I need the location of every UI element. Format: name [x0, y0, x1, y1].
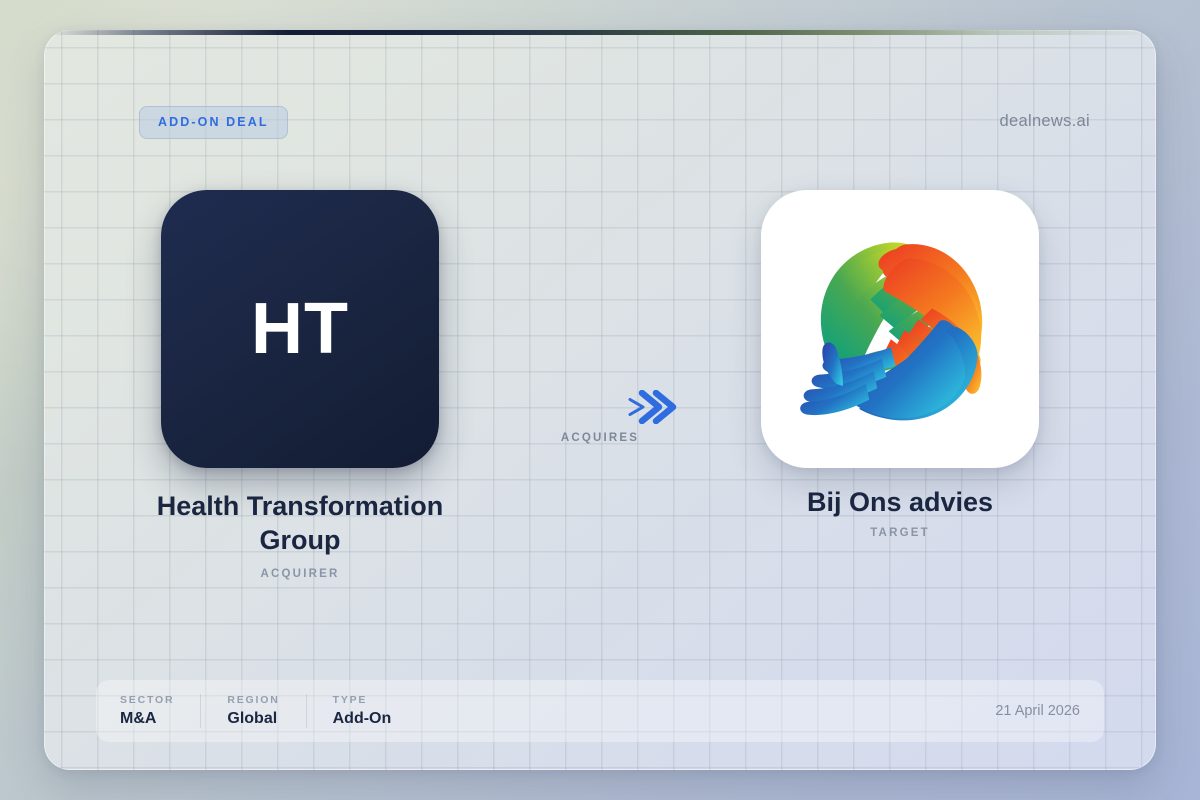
- target-logo-tile: [761, 190, 1039, 468]
- target-block: Bij Ons advies TARGET: [705, 190, 1095, 539]
- meta-sector: SECTOR M&A: [120, 694, 201, 728]
- acquirer-block: HT Health Transformation Group ACQUIRER: [105, 190, 495, 580]
- brand-watermark: dealnews.ai: [1000, 112, 1090, 131]
- meta-type: TYPE Add-On: [333, 694, 418, 728]
- acquirer-name: Health Transformation Group: [135, 490, 465, 558]
- acquirer-role-label: ACQUIRER: [261, 568, 340, 580]
- deal-date: 21 April 2026: [995, 703, 1080, 719]
- meta-sector-value: M&A: [120, 710, 174, 728]
- deal-row: HT Health Transformation Group ACQUIRER: [44, 190, 1156, 580]
- meta-type-label: TYPE: [333, 694, 392, 706]
- card-top-accent-bar: [44, 30, 1156, 35]
- target-name: Bij Ons advies: [807, 486, 993, 520]
- meta-region-label: REGION: [227, 694, 279, 706]
- deal-meta-footer: SECTOR M&A REGION Global TYPE Add-On 21 …: [96, 680, 1104, 742]
- meta-sector-label: SECTOR: [120, 694, 174, 706]
- deal-type-badge[interactable]: ADD-ON DEAL: [139, 106, 288, 139]
- three-hands-circle-icon: [786, 215, 1014, 443]
- meta-region: REGION Global: [227, 694, 306, 728]
- meta-type-value: Add-On: [333, 710, 392, 728]
- deal-card: ADD-ON DEAL dealnews.ai HT Health Transf…: [44, 30, 1156, 770]
- relation-label: ACQUIRES: [561, 432, 639, 444]
- target-role-label: TARGET: [870, 527, 930, 539]
- acquires-arrow-block: ACQUIRES: [495, 390, 705, 444]
- arrow-icon: [510, 390, 690, 424]
- acquirer-initials: HT: [251, 288, 349, 370]
- acquirer-logo-tile: HT: [161, 190, 439, 468]
- meta-region-value: Global: [227, 710, 279, 728]
